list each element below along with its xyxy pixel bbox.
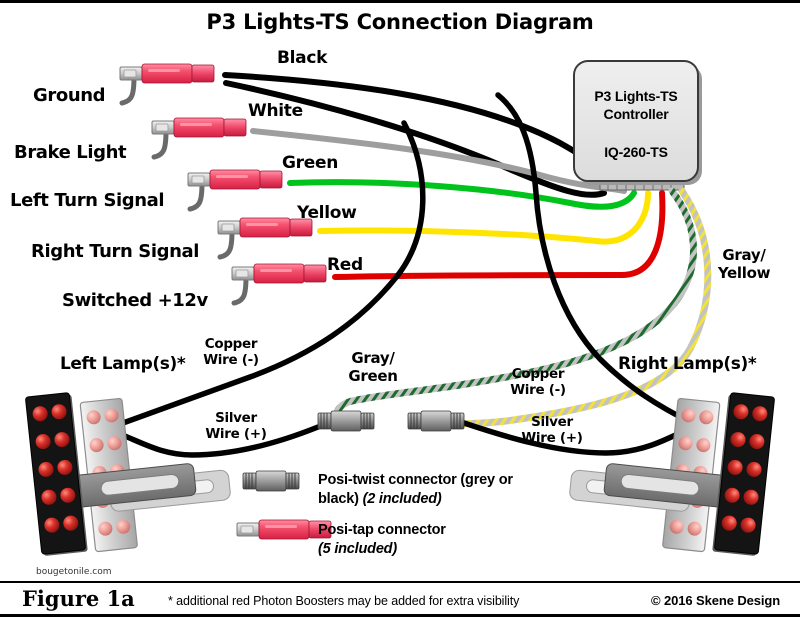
- figure-label: Figure 1a: [22, 588, 135, 610]
- posi-twist-connector-icon: [243, 471, 299, 491]
- gray-green-label-line1: Gray/: [336, 351, 410, 367]
- right-silver-wire-label-line1: Silver: [512, 415, 592, 429]
- footnote-text: * additional red Photon Boosters may be …: [168, 595, 519, 608]
- wire-color-red: Red: [327, 257, 363, 275]
- wire-color-green: Green: [282, 155, 338, 173]
- left-silver-wire-label-line2: Wire (+): [196, 427, 276, 441]
- posi-tap-connector-icon: [188, 170, 282, 209]
- left-copper-wire-label-line1: Copper: [186, 337, 276, 351]
- input-label-ground: Ground: [33, 87, 105, 106]
- right-copper-wire-label-line1: Copper: [496, 367, 580, 381]
- posi-tap-connector-icon: [152, 118, 246, 157]
- wiring-diagram-page: P3 Lights-TS Connection Diagram P3 Light…: [0, 0, 800, 617]
- legend-posi-twist-line2: black): [318, 491, 359, 507]
- posi-tap-connector-icon: [232, 264, 326, 303]
- gray-yellow-label-line1: Gray/: [706, 248, 782, 264]
- left-copper-wire-label-line2: Wire (-): [186, 353, 276, 367]
- posi-twist-connector-icon: [408, 411, 464, 431]
- wire-color-yellow: Yellow: [297, 205, 357, 223]
- right-silver-wire-label-line2: Wire (+): [512, 431, 592, 445]
- controller-box: [574, 61, 702, 185]
- input-label-switched-12v: Switched +12v: [62, 292, 208, 311]
- legend-posi-twist-line2-row: black) (2 included): [318, 490, 442, 508]
- posi-twist-connector-icon: [318, 411, 374, 431]
- posi-tap-connector-icon: [237, 520, 331, 539]
- posi-tap-connector-icon: [218, 218, 312, 257]
- page-title: P3 Lights-TS Connection Diagram: [0, 11, 800, 33]
- controller-name-line2: Controller: [574, 107, 698, 122]
- gray-yellow-label-line2: Yellow: [706, 266, 782, 282]
- input-label-brake-light: Brake Light: [14, 144, 126, 163]
- input-label-right-turn-signal: Right Turn Signal: [31, 243, 199, 262]
- right-lamp-label: Right Lamp(s)*: [618, 356, 756, 374]
- legend-posi-twist-line1: Posi-twist connector (grey or: [318, 471, 513, 489]
- posi-tap-connector-icon: [120, 64, 214, 103]
- left-silver-wire-label-line1: Silver: [196, 411, 276, 425]
- controller-model: IQ-260-TS: [574, 145, 698, 160]
- left-lamp-label: Left Lamp(s)*: [60, 356, 185, 374]
- watermark: bougetonile.com: [36, 568, 112, 577]
- gray-green-label-line2: Green: [336, 369, 410, 385]
- legend-posi-twist-count: (2 included): [363, 491, 442, 507]
- copyright-text: © 2016 Skene Design: [651, 594, 780, 608]
- footer-divider: [0, 581, 800, 583]
- input-label-left-turn-signal: Left Turn Signal: [10, 192, 164, 211]
- wire-color-black: Black: [277, 50, 327, 68]
- led-lamp-icon: [569, 392, 775, 556]
- legend-posi-tap-line1: Posi-tap connector: [318, 521, 446, 539]
- controller-name-line1: P3 Lights-TS: [574, 89, 698, 104]
- wire-color-white: White: [248, 103, 303, 121]
- legend-posi-tap-count: (5 included): [318, 540, 397, 558]
- right-copper-wire-label-line2: Wire (-): [496, 383, 580, 397]
